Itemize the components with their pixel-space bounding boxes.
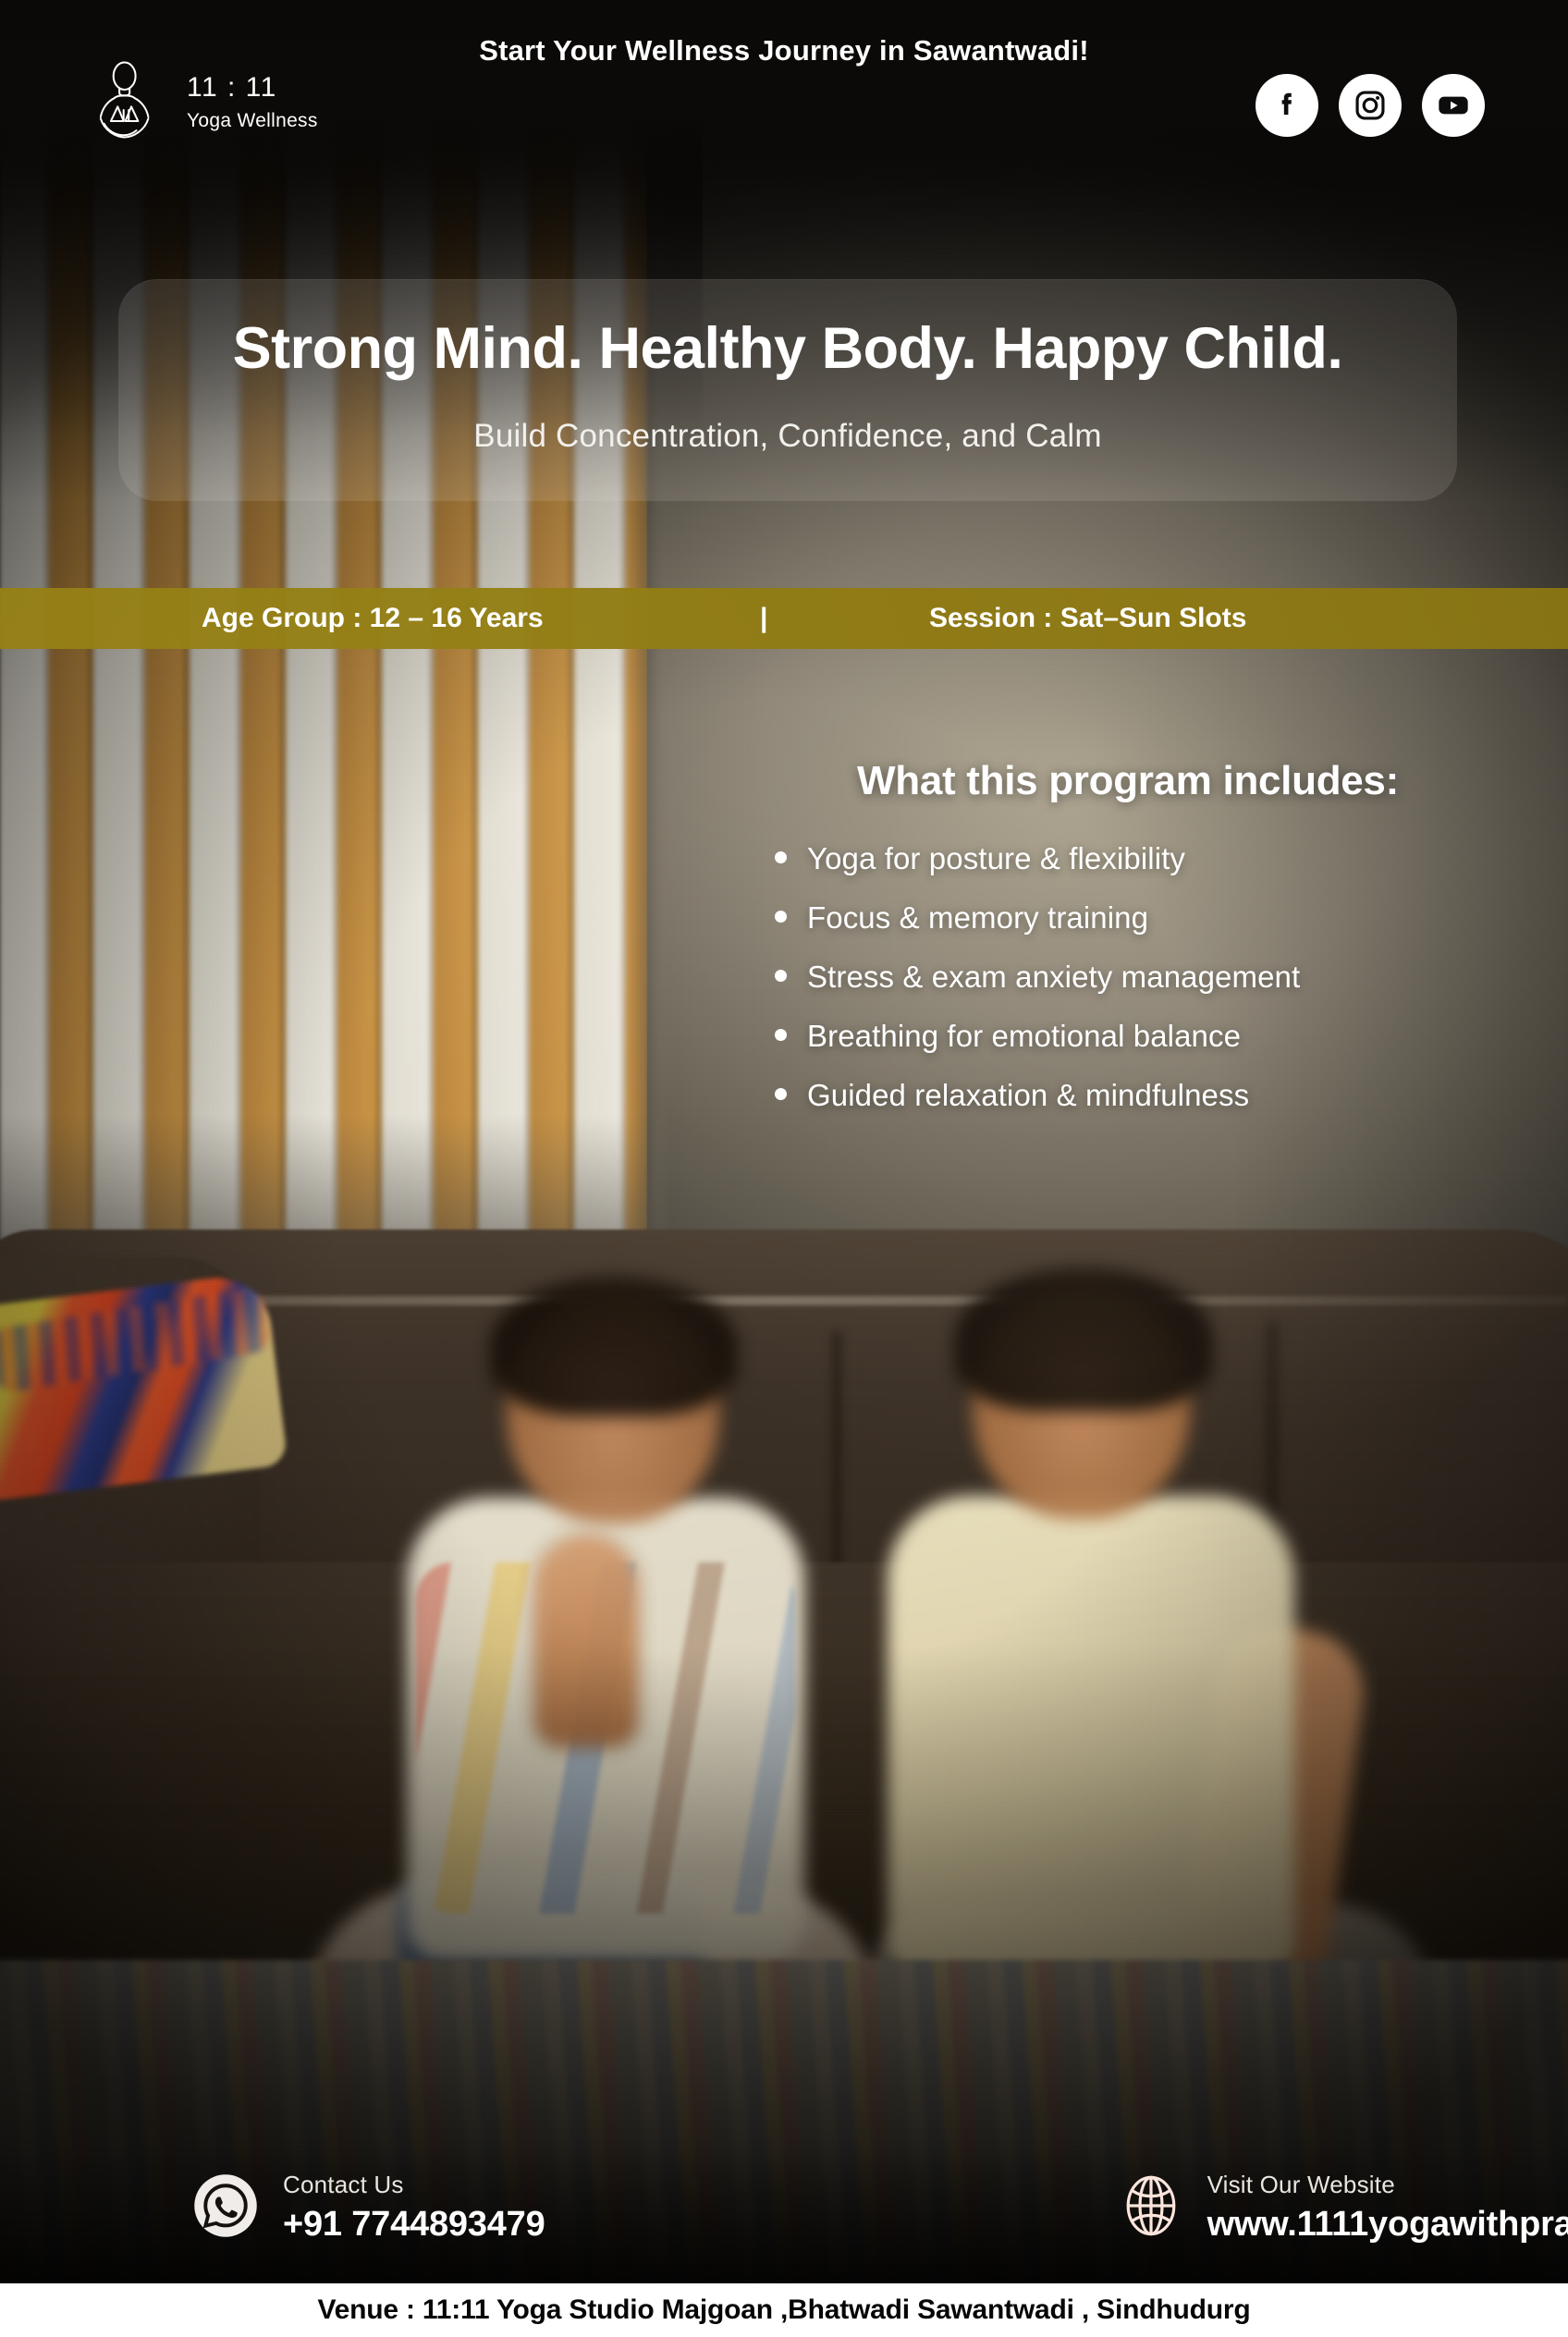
social-links (1256, 74, 1485, 137)
list-item-label: Stress & exam anxiety management (807, 960, 1300, 995)
brand-tagline: Yoga Wellness (187, 111, 318, 130)
bullet-icon (775, 911, 787, 923)
list-item: Guided relaxation & mindfulness (775, 1078, 1525, 1113)
poster-root: 11 : 11 Yoga Wellness Start Your Wellnes… (0, 0, 1568, 2337)
list-item-label: Guided relaxation & mindfulness (807, 1078, 1249, 1113)
bullet-icon (775, 1029, 787, 1041)
bullet-icon (775, 851, 787, 863)
program-section: What this program includes: Yoga for pos… (730, 758, 1525, 1137)
website-value: www.1111yogawithpradipti.com (1207, 2205, 1568, 2245)
bullet-icon (775, 1088, 787, 1100)
list-item-label: Focus & memory training (807, 900, 1148, 936)
contact-phone-value: +91 7744893479 (283, 2205, 545, 2245)
globe-icon (1119, 2173, 1183, 2243)
page-title: Strong Mind. Healthy Body. Happy Child. (118, 320, 1457, 378)
contact-label: Contact Us (283, 2171, 545, 2199)
brand-name: 11 : 11 (187, 74, 318, 102)
bullet-icon (775, 970, 787, 982)
youtube-icon[interactable] (1422, 74, 1485, 137)
list-item-label: Breathing for emotional balance (807, 1019, 1241, 1054)
contact-phone-block[interactable]: Contact Us +91 7744893479 (192, 2171, 545, 2245)
list-item: Yoga for posture & flexibility (775, 841, 1525, 876)
contact-row: Contact Us +91 7744893479 Visit Our Webs… (0, 2171, 1568, 2245)
venue-text: Venue : 11:11 Yoga Studio Majgoan ,Bhatw… (318, 2294, 1251, 2326)
header-tagline: Start Your Wellness Journey in Sawantwad… (0, 34, 1568, 67)
top-bar: 11 : 11 Yoga Wellness Start Your Wellnes… (0, 0, 1568, 199)
instagram-icon[interactable] (1339, 74, 1402, 137)
page-subtitle: Build Concentration, Confidence, and Cal… (118, 418, 1457, 455)
list-item-label: Yoga for posture & flexibility (807, 841, 1185, 876)
website-label: Visit Our Website (1207, 2171, 1568, 2199)
contact-website-block[interactable]: Visit Our Website www.1111yogawithpradip… (1119, 2171, 1568, 2245)
headline-card: Strong Mind. Healthy Body. Happy Child. … (118, 279, 1457, 501)
program-heading: What this program includes: (730, 758, 1525, 804)
brand-logo[interactable]: 11 : 11 Yoga Wellness (89, 57, 318, 142)
session-text: Session : Sat–Sun Slots (929, 603, 1246, 634)
venue-footer: Venue : 11:11 Yoga Studio Majgoan ,Bhatw… (0, 2283, 1568, 2337)
list-item: Stress & exam anxiety management (775, 960, 1525, 995)
whatsapp-icon (192, 2172, 259, 2244)
info-band: Age Group : 12 – 16 Years | Session : Sa… (0, 588, 1568, 649)
age-group-text: Age Group : 12 – 16 Years (202, 603, 544, 634)
band-separator: | (760, 603, 767, 634)
list-item: Breathing for emotional balance (775, 1019, 1525, 1054)
list-item: Focus & memory training (775, 900, 1525, 936)
facebook-icon[interactable] (1256, 74, 1318, 137)
program-list: Yoga for posture & flexibility Focus & m… (730, 841, 1525, 1113)
meditating-person-icon (89, 57, 174, 142)
